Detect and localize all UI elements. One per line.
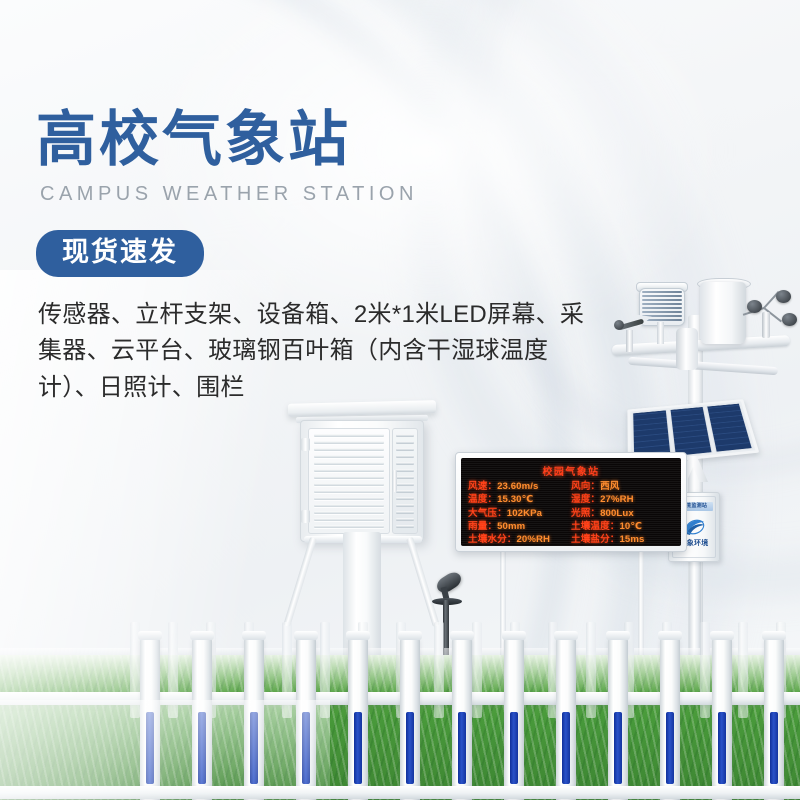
stock-badge: 现货速发 [36, 230, 204, 277]
solar-panel-column [670, 406, 713, 457]
page-subtitle: CAMPUS WEATHER STATION [40, 183, 656, 206]
led-row: 风速：23.60m/s 风向：西风 [468, 481, 674, 493]
fence-post [504, 638, 524, 800]
spotlight-head [434, 569, 464, 595]
anemometer-cup [782, 313, 797, 326]
fence-post [556, 638, 576, 800]
led-screen: 校园气象站 风速：23.60m/s 风向：西风 温度：15.30℃ 湿度：27%… [461, 458, 681, 546]
stevenson-screen [300, 420, 424, 542]
fence-post [192, 638, 212, 800]
solar-panel-column [706, 403, 753, 453]
fence-post [296, 638, 316, 800]
fence-post [244, 638, 264, 800]
fence-post [452, 638, 472, 800]
led-cell-wind-speed: 风速：23.60m/s [468, 481, 571, 493]
led-cell-wind-direction: 风向：西风 [571, 481, 674, 493]
led-cell-rainfall: 雨量：50mm [468, 521, 571, 533]
fence-post [140, 638, 160, 800]
led-cell-temperature: 温度：15.30℃ [468, 494, 571, 506]
tripod-leg [283, 537, 317, 627]
stevenson-hinge [301, 438, 310, 451]
fence-post [348, 638, 368, 800]
led-cell-humidity: 湿度：27%RH [571, 494, 674, 506]
led-cell-pressure: 大气压：102KPa [468, 508, 571, 520]
stevenson-hinge [301, 510, 310, 523]
product-poster: 环境监测站 万象环境 校园气象站 风速：23.60m/s 风向：西风 [0, 0, 800, 800]
anemometer-stem [762, 312, 770, 338]
led-row: 土壤水分：20%RH 土壤盐分：15ms [468, 534, 674, 546]
fence-rail [0, 786, 800, 799]
led-row: 大气压：102KPa 光照：800Lux [468, 508, 674, 520]
fence-post [608, 638, 628, 800]
anemometer-icon [746, 290, 800, 336]
fence-post [764, 638, 784, 800]
anemometer-cup [776, 290, 791, 303]
anemometer-cup [747, 300, 762, 313]
rain-gauge-icon [700, 282, 746, 344]
led-cell-soil-salinity: 土壤盐分：15ms [571, 534, 674, 546]
headline-block: 高校气象站 CAMPUS WEATHER STATION 现货速发 传感器、立杆… [36, 108, 656, 406]
stevenson-latch [392, 470, 397, 492]
product-description: 传感器、立杆支架、设备箱、2米*1米LED屏幕、采集器、云平台、玻璃钢百叶箱（内… [38, 297, 598, 406]
perimeter-fence [0, 638, 800, 800]
stevenson-door [308, 428, 390, 534]
led-cell-soil-temperature: 土壤温度：10℃ [571, 521, 674, 533]
led-cell-soil-moisture: 土壤水分：20%RH [468, 534, 571, 546]
led-cell-illuminance: 光照：800Lux [571, 508, 674, 520]
fence-post [400, 638, 420, 800]
led-screen-title: 校园气象站 [468, 463, 674, 478]
radiation-shield-stem [657, 322, 664, 344]
fence-post [660, 638, 680, 800]
fence-post [712, 638, 732, 800]
led-row: 雨量：50mm 土壤温度：10℃ [468, 521, 674, 533]
page-title: 高校气象站 [36, 108, 656, 173]
cross-arm-hub [676, 328, 698, 370]
led-row: 温度：15.30℃ 湿度：27%RH [468, 494, 674, 506]
led-display-panel: 校园气象站 风速：23.60m/s 风向：西风 温度：15.30℃ 湿度：27%… [455, 452, 687, 552]
